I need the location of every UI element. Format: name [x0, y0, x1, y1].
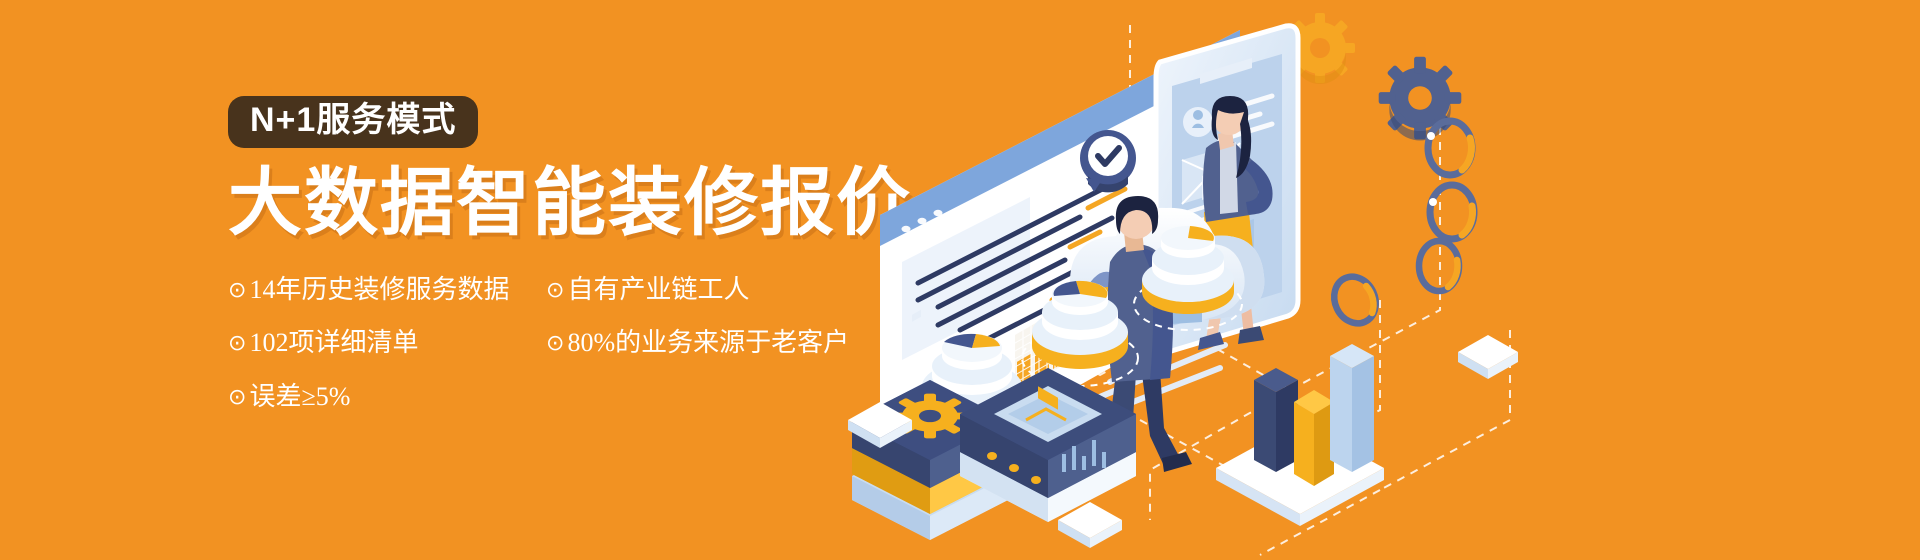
promo-banner: N+1服务模式 大数据智能装修报价 ⊙ 14年历史装修服务数据 ⊙ 自有产业链工… — [0, 0, 1920, 560]
list-item-label: 误差≥5% — [249, 381, 350, 414]
list-item: ⊙ 14年历史装修服务数据 — [228, 274, 546, 307]
circular-arrow-ring — [1427, 121, 1472, 175]
check-badge — [1080, 130, 1136, 192]
circular-arrow-ring — [1327, 270, 1384, 330]
circular-arrow-ring — [1429, 185, 1474, 239]
list-item: ⊙ 102项详细清单 — [228, 327, 546, 360]
gear-navy — [1379, 57, 1462, 141]
list-item-label: 14年历史装修服务数据 — [249, 274, 509, 307]
floating-card — [1458, 335, 1518, 379]
list-item-label: 102项详细清单 — [249, 327, 418, 360]
bullet-dot-icon: ⊙ — [228, 387, 246, 409]
big-data-isometric-illustration — [820, 0, 1920, 560]
bullet-dot-icon: ⊙ — [228, 333, 246, 355]
bullet-dot-icon: ⊙ — [228, 280, 246, 302]
service-model-badge: N+1服务模式 — [228, 96, 478, 148]
list-item: ⊙ 误差≥5% — [228, 381, 546, 414]
list-item-label: 自有产业链工人 — [567, 274, 749, 307]
bullet-dot-icon: ⊙ — [546, 333, 564, 355]
list-item-label: 80%的业务来源于老客户 — [567, 327, 849, 360]
bullet-dot-icon: ⊙ — [546, 280, 564, 302]
bar-chart-3d — [1216, 344, 1384, 526]
